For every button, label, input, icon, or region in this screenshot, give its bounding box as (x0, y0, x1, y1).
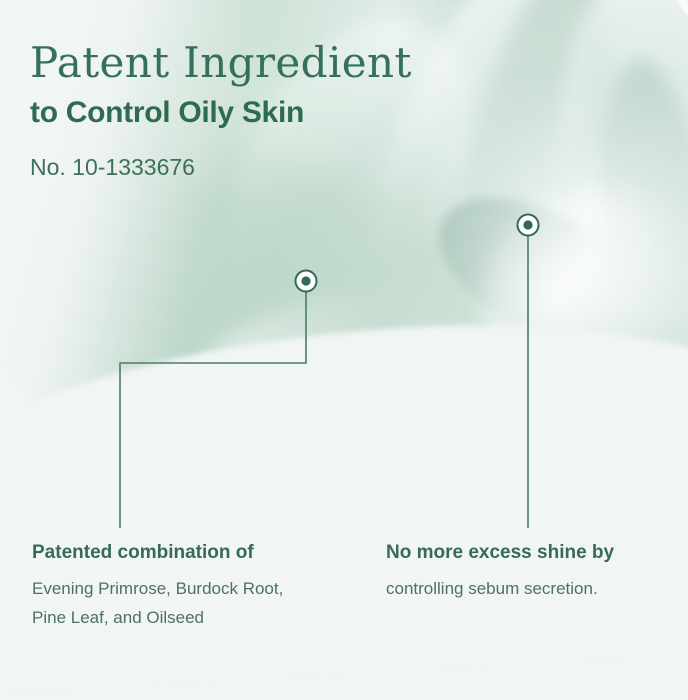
cream-swirl-crease (415, 167, 666, 376)
callout-marker-right (518, 215, 539, 236)
cream-bottom-shadow (188, 391, 688, 533)
cream-swirl-shadow-2 (584, 56, 688, 394)
heading-block: Patent Ingredient to Control Oily Skin N… (30, 38, 412, 184)
cream-bottom-mask (0, 305, 688, 695)
page-title-bold: to Control Oily Skin (30, 92, 412, 134)
cream-swirl-lower-sheen (175, 278, 498, 493)
caption-title-right: No more excess shine by (386, 540, 614, 566)
caption-body-line: controlling sebum secretion. (386, 574, 614, 603)
callout-caption-right: No more excess shine by controlling sebu… (386, 540, 614, 603)
patent-number: No. 10-1333676 (30, 150, 412, 184)
patent-ingredient-poster: Patent Ingredient to Control Oily Skin N… (0, 0, 688, 700)
callout-marker-left (296, 271, 317, 292)
cream-swirl-fold-2 (531, 0, 688, 358)
cream-swirl-highlight-right (453, 160, 688, 431)
cream-swirl-mid-left (120, 150, 380, 450)
page-title-script: Patent Ingredient (30, 38, 412, 88)
caption-body-line: Pine Leaf, and Oilseed (32, 603, 283, 632)
caption-body-line: Evening Primrose, Burdock Root, (32, 574, 283, 603)
caption-body-left: Evening Primrose, Burdock Root, Pine Lea… (32, 574, 283, 632)
callout-caption-left: Patented combination of Evening Primrose… (32, 540, 283, 632)
caption-body-right: controlling sebum secretion. (386, 574, 614, 603)
cream-swirl-shadow-1 (427, 0, 634, 368)
leader-line-left (120, 292, 306, 528)
caption-title-left: Patented combination of (32, 540, 283, 566)
